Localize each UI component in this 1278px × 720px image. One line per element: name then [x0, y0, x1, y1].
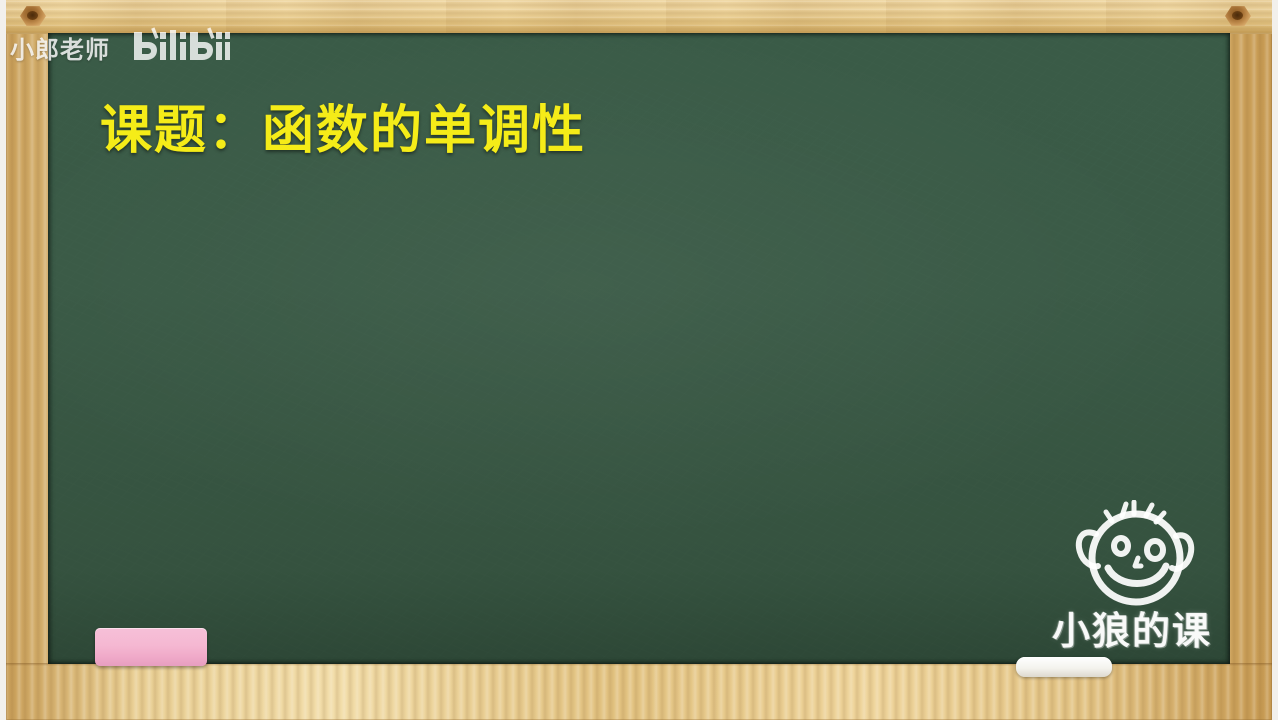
channel-logo: 小狼的课 — [1060, 500, 1230, 670]
pink-eraser — [95, 628, 207, 666]
teacher-name-watermark: 小郎老师 — [10, 30, 110, 65]
white-chalk-stick — [1016, 657, 1112, 677]
slide-stage: 课题：函数的单调性 小郎老师 — [0, 0, 1278, 720]
chalk-smiley-wolf-face-icon — [1060, 500, 1210, 615]
bilibili-logo-icon — [132, 26, 232, 66]
lesson-title: 课题：函数的单调性 — [100, 88, 586, 163]
channel-logo-caption: 小狼的课 — [1052, 600, 1252, 655]
